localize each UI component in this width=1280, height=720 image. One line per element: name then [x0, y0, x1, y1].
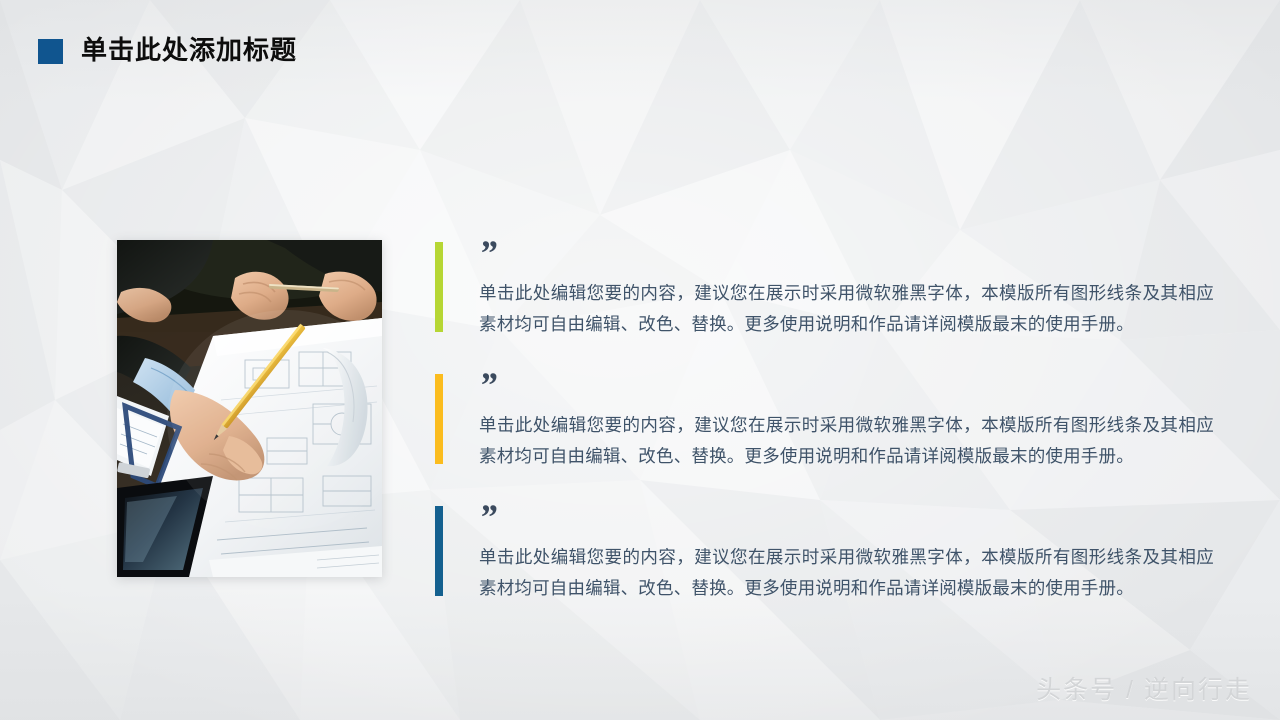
slide-canvas: 单击此处添加标题 [0, 0, 1280, 720]
watermark-credit: 头条号 / 逆向行走 [1036, 670, 1252, 706]
slide-header: 单击此处添加标题 [0, 0, 1280, 90]
quote-block: ” 单击此处编辑您要的内容，建议您在展示时采用微软雅黑字体，本模版所有图形线条及… [435, 242, 1195, 340]
page-title: 单击此处添加标题 [81, 33, 297, 67]
quote-text: 单击此处编辑您要的内容，建议您在展示时采用微软雅黑字体，本模版所有图形线条及其相… [479, 410, 1214, 472]
quote-mark-icon: ” [479, 374, 1195, 400]
title-marker-square [38, 39, 63, 64]
quote-text: 单击此处编辑您要的内容，建议您在展示时采用微软雅黑字体，本模版所有图形线条及其相… [479, 542, 1214, 604]
quote-mark-icon: ” [479, 506, 1195, 532]
accent-bar-yellow [435, 374, 443, 464]
accent-bar-blue [435, 506, 443, 596]
quote-mark-icon: ” [479, 242, 1195, 268]
content-photo [117, 240, 382, 577]
quote-text: 单击此处编辑您要的内容，建议您在展示时采用微软雅黑字体，本模版所有图形线条及其相… [479, 278, 1214, 340]
quote-block: ” 单击此处编辑您要的内容，建议您在展示时采用微软雅黑字体，本模版所有图形线条及… [435, 374, 1195, 472]
quote-block: ” 单击此处编辑您要的内容，建议您在展示时采用微软雅黑字体，本模版所有图形线条及… [435, 506, 1195, 604]
accent-bar-green [435, 242, 443, 332]
quote-block-list: ” 单击此处编辑您要的内容，建议您在展示时采用微软雅黑字体，本模版所有图形线条及… [435, 242, 1195, 604]
photo-illustration [117, 240, 382, 577]
